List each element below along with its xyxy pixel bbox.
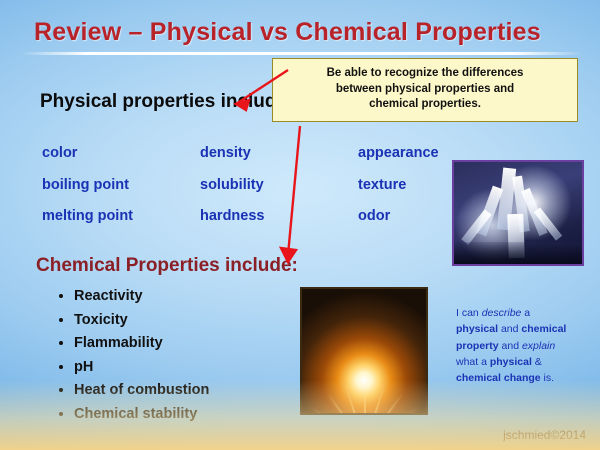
property-melting-point: melting point <box>42 208 133 224</box>
title-divider <box>20 52 582 55</box>
property-texture: texture <box>358 177 406 193</box>
note-part: & <box>532 356 542 368</box>
credit-text: jschmied©2014 <box>503 428 586 442</box>
note-part: chemical <box>521 323 566 335</box>
note-part: describe <box>482 307 522 319</box>
note-part: explain <box>522 340 555 352</box>
sparks-photo <box>300 287 428 415</box>
chemical-properties-heading: Chemical Properties include: <box>36 255 298 277</box>
list-item: Reactivity <box>74 288 209 304</box>
note-part: what a <box>456 356 490 368</box>
page-title: Review – Physical vs Chemical Properties <box>34 18 574 47</box>
list-item: Heat of combustion <box>74 382 209 398</box>
list-item: Toxicity <box>74 312 209 328</box>
callout-line-2: between physical properties and <box>282 82 568 98</box>
list-item: pH <box>74 359 209 375</box>
property-odor: odor <box>358 208 390 224</box>
note-part: physical <box>456 323 498 335</box>
note-part: is. <box>541 372 554 384</box>
callout-line-3: chemical properties. <box>282 97 568 113</box>
callout-line-1: Be able to recognize the differences <box>282 66 568 82</box>
note-part: property <box>456 340 499 352</box>
property-solubility: solubility <box>200 177 264 193</box>
property-color: color <box>42 145 77 161</box>
list-item: Chemical stability <box>74 406 209 422</box>
property-appearance: appearance <box>358 145 439 161</box>
note-part: and <box>499 340 522 352</box>
callout-box: Be able to recognize the differences bet… <box>272 58 578 122</box>
crystal-photo <box>452 160 584 266</box>
physical-properties-heading: Physical properties include: <box>40 91 293 113</box>
note-part: and <box>498 323 521 335</box>
note-part: chemical change <box>456 372 541 384</box>
note-part: a <box>521 307 530 319</box>
property-density: density <box>200 145 251 161</box>
note-part: I can <box>456 307 482 319</box>
property-hardness: hardness <box>200 208 264 224</box>
note-part: physical <box>490 356 532 368</box>
slide: Review – Physical vs Chemical Properties… <box>0 0 600 450</box>
arrow-down-line <box>288 126 300 255</box>
chemical-properties-list: Reactivity Toxicity Flammability pH Heat… <box>56 288 209 429</box>
property-boiling-point: boiling point <box>42 177 129 193</box>
list-item: Flammability <box>74 335 209 351</box>
i-can-statement: I can describe a physical and chemical p… <box>456 305 588 386</box>
